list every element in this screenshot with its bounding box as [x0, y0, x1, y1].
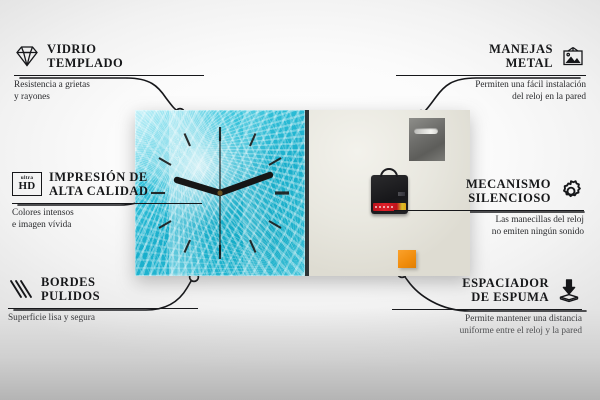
feature-description: Superficie lisa y segura — [8, 312, 198, 324]
feature-title-line2: ALTA CALIDAD — [49, 184, 148, 198]
feature-title-line1: MECANISMO — [466, 177, 551, 191]
feature-rule — [394, 210, 584, 211]
feature-rule — [12, 203, 202, 204]
feature-title-line1: MANEJAS — [489, 42, 553, 56]
feature-bordes-pulidos: BORDES PULIDOS Superficie lisa y segura — [8, 275, 198, 324]
diagonal-lines-icon — [8, 276, 34, 302]
infographic-canvas: VIDRIO TEMPLADO Resistencia a grietas y … — [0, 0, 600, 400]
feature-rule — [8, 308, 198, 309]
feature-title-line2: SILENCIOSO — [466, 191, 551, 205]
feature-title-line1: ESPACIADOR — [462, 276, 549, 290]
foam-spacer — [398, 250, 416, 268]
feature-description: Permite mantener una distancia uniforme … — [392, 313, 582, 338]
feature-description: Resistencia a grietas y rayones — [14, 79, 204, 104]
feature-mecanismo-silencioso: MECANISMO SILENCIOSO Las manecillas del … — [394, 177, 584, 238]
feature-title-line1: VIDRIO — [47, 42, 123, 56]
diamond-icon — [14, 43, 40, 69]
hanger-slot — [414, 128, 438, 134]
feature-title-line2: METAL — [489, 56, 553, 70]
picture-frame-icon — [560, 43, 586, 69]
feature-impresion-alta-calidad: ultra HD IMPRESIÓN DE ALTA CALIDAD Color… — [12, 170, 202, 231]
feature-espaciador-espuma: ESPACIADOR DE ESPUMA Permite mantener un… — [392, 276, 582, 337]
gear-icon — [558, 178, 584, 204]
feature-rule — [396, 75, 586, 76]
feature-rule — [14, 75, 204, 76]
feature-title-line2: DE ESPUMA — [462, 290, 549, 304]
mechanism-hanging-loop — [380, 168, 398, 177]
feature-description: Permiten una fácil instalación del reloj… — [396, 79, 586, 104]
feature-title-line2: PULIDOS — [41, 289, 100, 303]
feature-title-line1: BORDES — [41, 275, 100, 289]
feature-title-line2: TEMPLADO — [47, 56, 123, 70]
feature-description: Colores intensos e imagen vívida — [12, 207, 202, 232]
feature-manejas-metal: MANEJAS METAL Permiten una fácil instala… — [396, 42, 586, 103]
metal-hanger-plate — [409, 118, 445, 161]
feature-title-line1: IMPRESIÓN DE — [49, 170, 148, 184]
feature-rule — [392, 309, 582, 310]
feature-vidrio-templado: VIDRIO TEMPLADO Resistencia a grietas y … — [14, 42, 204, 103]
ultra-hd-icon: ultra HD — [12, 172, 42, 196]
ultra-hd-icon-large-text: HD — [19, 181, 36, 192]
feature-description: Las manecillas del reloj no emiten ningú… — [394, 214, 584, 239]
down-arrow-pad-icon — [556, 277, 582, 303]
